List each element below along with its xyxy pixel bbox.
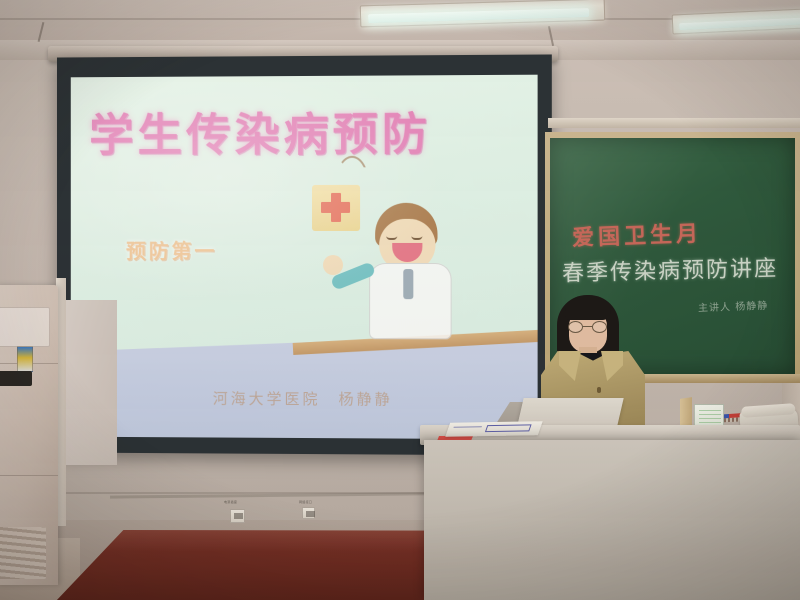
presenter-fringe <box>565 298 611 320</box>
blackboard-topic: 春季传染病预防讲座 <box>562 250 779 287</box>
slide-title: 学生传染病预防 <box>89 97 528 164</box>
wall-outlet-2[interactable] <box>302 507 315 519</box>
paper-line <box>453 426 482 427</box>
outlet-slot <box>234 513 243 519</box>
outlet-slot <box>306 511 315 517</box>
ac-front-panel <box>0 307 50 347</box>
projection-screen: 学生传染病预防 预防第一 河 <box>57 54 552 455</box>
tube-glow <box>679 15 800 31</box>
glasses-bridge <box>583 326 592 327</box>
wall-outlet-1[interactable] <box>230 509 245 523</box>
cross-horizontal <box>321 202 350 213</box>
ac-seam-mid <box>0 475 58 476</box>
ac-vent-grille <box>0 527 46 579</box>
tube-glow <box>368 8 589 23</box>
cartoon-doctor-illustration <box>359 202 465 338</box>
glasses-lens-left <box>568 321 583 333</box>
papers-on-lectern[interactable] <box>445 421 542 437</box>
doctor-hand <box>323 255 343 275</box>
doctor-eye-right <box>411 236 422 240</box>
outlet-label-1: 电源插座 <box>224 500 237 504</box>
doctor-tie <box>403 269 413 299</box>
doctor-eye-left <box>386 236 397 240</box>
glasses-icon <box>568 321 608 333</box>
slide-subtitle: 河海大学医院 杨静静 <box>71 387 538 410</box>
blackboard-top-rail <box>548 118 800 128</box>
presentation-slide: 学生传染病预防 预防第一 河 <box>71 75 538 440</box>
ac-display-icon <box>0 371 32 386</box>
jacket-button-1 <box>597 387 601 393</box>
projection-screen-surface: 学生传染病预防 预防第一 河 <box>71 75 538 440</box>
blackboard-speaker: 主讲人 杨静静 <box>698 297 769 314</box>
outlet-label-2: 网络接口 <box>299 500 312 504</box>
medical-cross-icon <box>312 184 360 230</box>
lectern-cabinet[interactable] <box>424 440 800 600</box>
blackboard-heading: 爱国卫生月 <box>571 216 702 253</box>
ac-energy-label <box>17 346 33 372</box>
slide-tagline: 预防第一 <box>126 235 217 264</box>
wall-cabinet <box>62 300 117 465</box>
paper-form-box <box>485 424 532 432</box>
telephone-handset[interactable] <box>741 403 796 418</box>
glasses-lens-right <box>592 321 607 333</box>
air-conditioner[interactable] <box>0 285 58 585</box>
classroom-photo: 电源插座 网络接口 学生传染病预防 <box>0 0 800 600</box>
